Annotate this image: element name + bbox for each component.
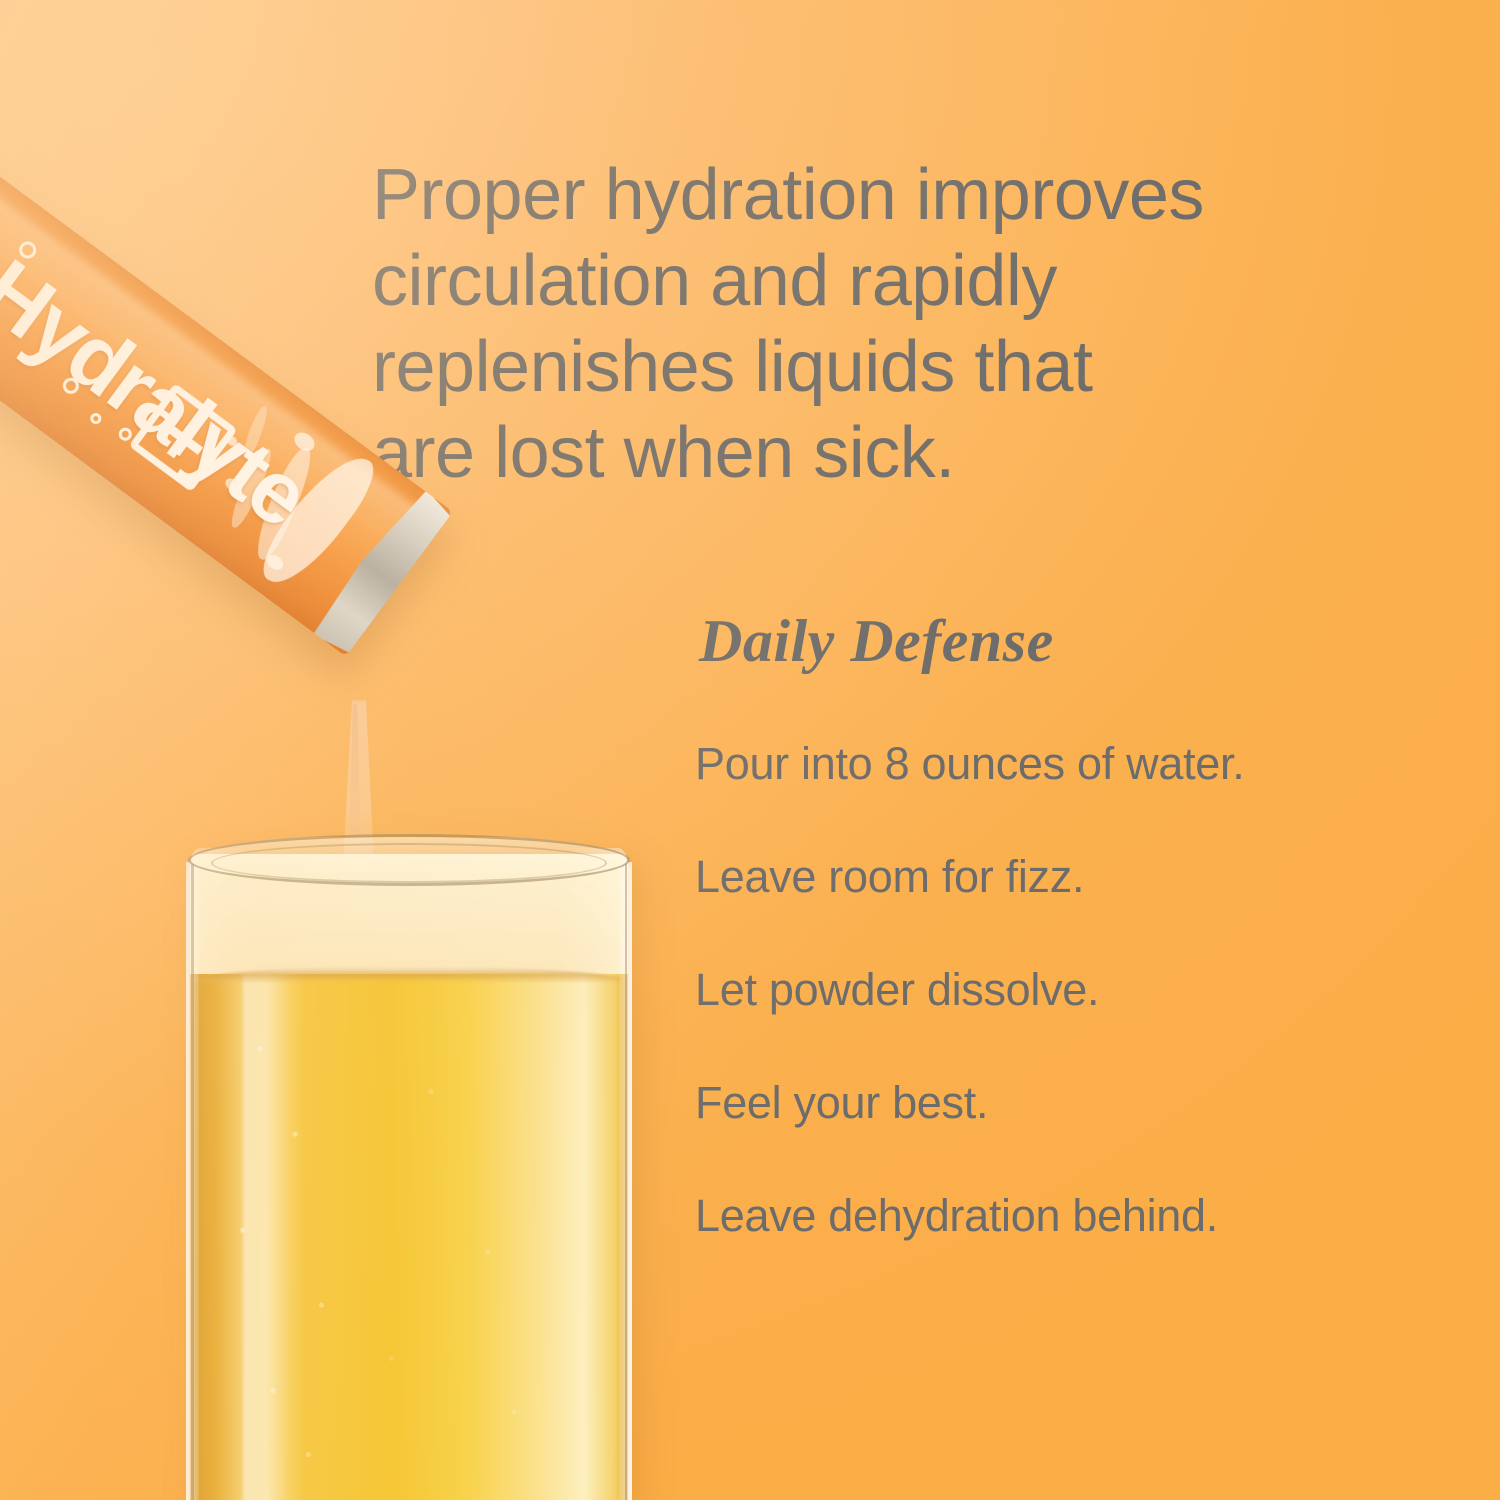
step-item: Leave room for fizz. [695,851,1455,903]
glass-edge-left [191,864,194,1500]
drinking-glass [186,848,632,1500]
glass-edge-right [625,864,628,1500]
step-item: Leave dehydration behind. [695,1190,1455,1242]
poster-background: Proper hydration improves circulation an… [0,0,1500,1500]
headline-text: Proper hydration improves circulation an… [372,152,1322,496]
step-item: Let powder dissolve. [695,964,1455,1016]
glass-body [186,848,632,1500]
panel-title: Daily Defense [699,608,1455,674]
step-item: Feel your best. [695,1077,1455,1129]
brand-wordmark: Hydralyte [0,245,323,541]
steps-list: Pour into 8 ounces of water. Leave room … [695,738,1455,1242]
glass-rim [188,834,630,886]
fizz-band [243,974,287,1500]
instructions-panel: Daily Defense Pour into 8 ounces of wate… [695,608,1455,1242]
amber-liquid [190,974,628,1500]
step-item: Pour into 8 ounces of water. [695,738,1455,790]
glass-rim-inner [211,843,607,883]
